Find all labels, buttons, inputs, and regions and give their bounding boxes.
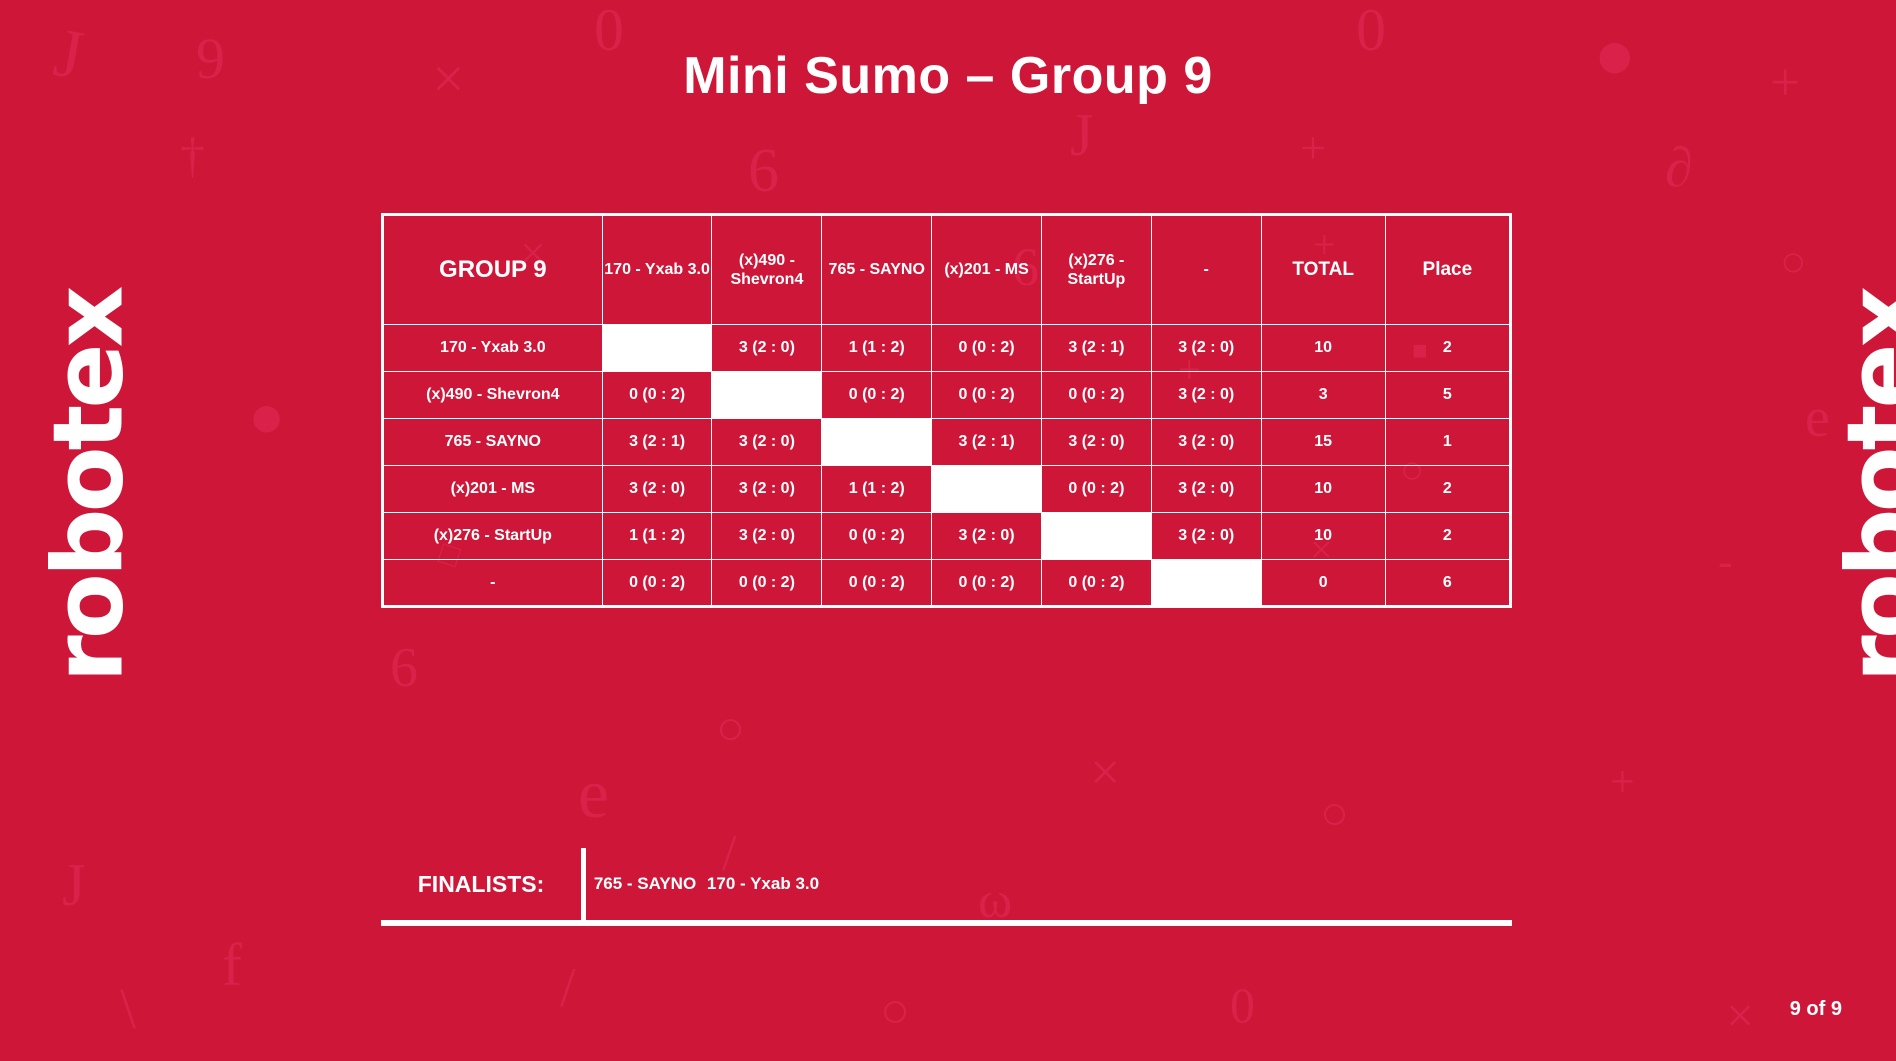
results-table: GROUP 9 170 - Yxab 3.0 (x)490 - Shevron4…: [381, 213, 1512, 608]
match-cell-score: 0 (0 : 2): [602, 560, 712, 607]
match-cell-score: 0 (0 : 2): [1041, 560, 1151, 607]
match-cell-score: 0 (0 : 2): [822, 372, 932, 419]
total-cell: 10: [1261, 325, 1385, 372]
match-cell-self: [602, 325, 712, 372]
match-cell-score: 3 (2 : 0): [602, 466, 712, 513]
table-row: 765 - SAYNO3 (2 : 1)3 (2 : 0)3 (2 : 1)3 …: [383, 419, 1511, 466]
table-row: (x)276 - StartUp1 (1 : 2)3 (2 : 0)0 (0 :…: [383, 513, 1511, 560]
total-cell: 3: [1261, 372, 1385, 419]
match-cell-score: 3 (2 : 0): [1041, 419, 1151, 466]
match-cell-score: 3 (2 : 0): [712, 513, 822, 560]
doodle-glyph: \: [120, 980, 136, 1038]
robotex-logo-left: robotex: [32, 290, 144, 683]
doodle-glyph: J: [62, 855, 85, 915]
match-cell-score: 0 (0 : 2): [1041, 372, 1151, 419]
place-cell: 2: [1385, 513, 1510, 560]
row-label-competitor: -: [383, 560, 603, 607]
slide-root: J9×00⬤+†6J+∂×+■○+⬤6□×-e○/ω○+×fJ\/○0×e○6 …: [0, 0, 1896, 1061]
doodle-glyph: ×: [1726, 990, 1754, 1040]
doodle-glyph: ○: [880, 985, 910, 1035]
match-cell-self: [712, 372, 822, 419]
place-cell: 5: [1385, 372, 1510, 419]
table-row: 170 - Yxab 3.03 (2 : 0)1 (1 : 2)0 (0 : 2…: [383, 325, 1511, 372]
match-cell-score: 0 (0 : 2): [1041, 466, 1151, 513]
table-row: -0 (0 : 2)0 (0 : 2)0 (0 : 2)0 (0 : 2)0 (…: [383, 560, 1511, 607]
match-cell-score: 3 (2 : 0): [712, 325, 822, 372]
column-header-total: TOTAL: [1261, 215, 1385, 325]
place-cell: 1: [1385, 419, 1510, 466]
row-label-competitor: (x)201 - MS: [383, 466, 603, 513]
page-title: Mini Sumo – Group 9: [0, 46, 1896, 106]
column-header-opponent-1: (x)490 - Shevron4: [712, 215, 822, 325]
doodle-glyph: ○: [1320, 790, 1349, 838]
match-cell-score: 0 (0 : 2): [932, 372, 1042, 419]
finalists-section: FINALISTS: 765 - SAYNO 170 - Yxab 3.0: [381, 848, 1512, 926]
place-cell: 2: [1385, 325, 1510, 372]
finalists-underline: [381, 920, 1512, 926]
match-cell-score: 1 (1 : 2): [822, 466, 932, 513]
match-cell-score: 3 (2 : 0): [1151, 513, 1261, 560]
table-header-row: GROUP 9 170 - Yxab 3.0 (x)490 - Shevron4…: [383, 215, 1511, 325]
finalists-row: FINALISTS: 765 - SAYNO 170 - Yxab 3.0: [381, 848, 1512, 920]
match-cell-score: 3 (2 : 0): [712, 419, 822, 466]
place-cell: 6: [1385, 560, 1510, 607]
total-cell: 15: [1261, 419, 1385, 466]
match-cell-self: [1151, 560, 1261, 607]
match-cell-score: 3 (2 : 0): [1151, 419, 1261, 466]
match-cell-score: 3 (2 : 0): [1151, 466, 1261, 513]
match-cell-self: [822, 419, 932, 466]
doodle-glyph: †: [180, 130, 205, 180]
results-table-body: 170 - Yxab 3.03 (2 : 0)1 (1 : 2)0 (0 : 2…: [383, 325, 1511, 607]
doodle-glyph: 6: [390, 640, 418, 696]
doodle-glyph: J: [1070, 105, 1093, 165]
doodle-glyph: +: [1610, 760, 1635, 804]
finalist-name-1: 170 - Yxab 3.0: [704, 873, 822, 894]
match-cell-score: 1 (1 : 2): [602, 513, 712, 560]
doodle-glyph: /: [560, 960, 576, 1016]
doodle-glyph: f: [222, 935, 242, 995]
total-cell: 10: [1261, 466, 1385, 513]
match-cell-score: 3 (2 : 0): [712, 466, 822, 513]
doodle-glyph: 0: [1230, 980, 1255, 1030]
row-label-competitor: (x)490 - Shevron4: [383, 372, 603, 419]
column-header-place: Place: [1385, 215, 1510, 325]
total-cell: 10: [1261, 513, 1385, 560]
doodle-glyph: ○: [716, 705, 745, 753]
finalists-label: FINALISTS:: [381, 871, 581, 898]
match-cell-score: 0 (0 : 2): [712, 560, 822, 607]
column-header-opponent-0: 170 - Yxab 3.0: [602, 215, 712, 325]
doodle-glyph: 6: [748, 140, 779, 202]
match-cell-self: [932, 466, 1042, 513]
match-cell-score: 3 (2 : 1): [1041, 325, 1151, 372]
column-header-opponent-3: (x)201 - MS: [932, 215, 1042, 325]
match-cell-score: 0 (0 : 2): [932, 325, 1042, 372]
page-number: 9 of 9: [1790, 998, 1842, 1021]
doodle-glyph: ×: [1090, 745, 1120, 799]
row-label-competitor: 765 - SAYNO: [383, 419, 603, 466]
match-cell-score: 0 (0 : 2): [822, 560, 932, 607]
match-cell-score: 0 (0 : 2): [932, 560, 1042, 607]
match-cell-score: 1 (1 : 2): [822, 325, 932, 372]
match-cell-score: 3 (2 : 0): [1151, 325, 1261, 372]
match-cell-score: 3 (2 : 0): [1151, 372, 1261, 419]
doodle-glyph: +: [1300, 125, 1326, 171]
column-header-opponent-5: -: [1151, 215, 1261, 325]
match-cell-self: [1041, 513, 1151, 560]
match-cell-score: 0 (0 : 2): [822, 513, 932, 560]
match-cell-score: 3 (2 : 1): [932, 419, 1042, 466]
doodle-glyph: ∂: [1665, 140, 1693, 196]
robotex-logo-right: robotex: [1826, 290, 1896, 683]
results-table-container: GROUP 9 170 - Yxab 3.0 (x)490 - Shevron4…: [381, 213, 1512, 608]
place-cell: 2: [1385, 466, 1510, 513]
row-label-competitor: 170 - Yxab 3.0: [383, 325, 603, 372]
table-row: (x)201 - MS3 (2 : 0)3 (2 : 0)1 (1 : 2)0 …: [383, 466, 1511, 513]
table-corner-label: GROUP 9: [383, 215, 603, 325]
doodle-glyph: ⬤: [252, 405, 281, 431]
match-cell-score: 3 (2 : 1): [602, 419, 712, 466]
match-cell-score: 0 (0 : 2): [602, 372, 712, 419]
column-header-opponent-4: (x)276 - StartUp: [1041, 215, 1151, 325]
finalist-name-0: 765 - SAYNO: [586, 873, 704, 894]
match-cell-score: 3 (2 : 0): [932, 513, 1042, 560]
doodle-glyph: e: [578, 760, 609, 830]
row-label-competitor: (x)276 - StartUp: [383, 513, 603, 560]
column-header-opponent-2: 765 - SAYNO: [822, 215, 932, 325]
doodle-glyph: -: [1718, 540, 1733, 584]
total-cell: 0: [1261, 560, 1385, 607]
doodle-glyph: ○: [1780, 240, 1807, 284]
table-row: (x)490 - Shevron40 (0 : 2)0 (0 : 2)0 (0 …: [383, 372, 1511, 419]
